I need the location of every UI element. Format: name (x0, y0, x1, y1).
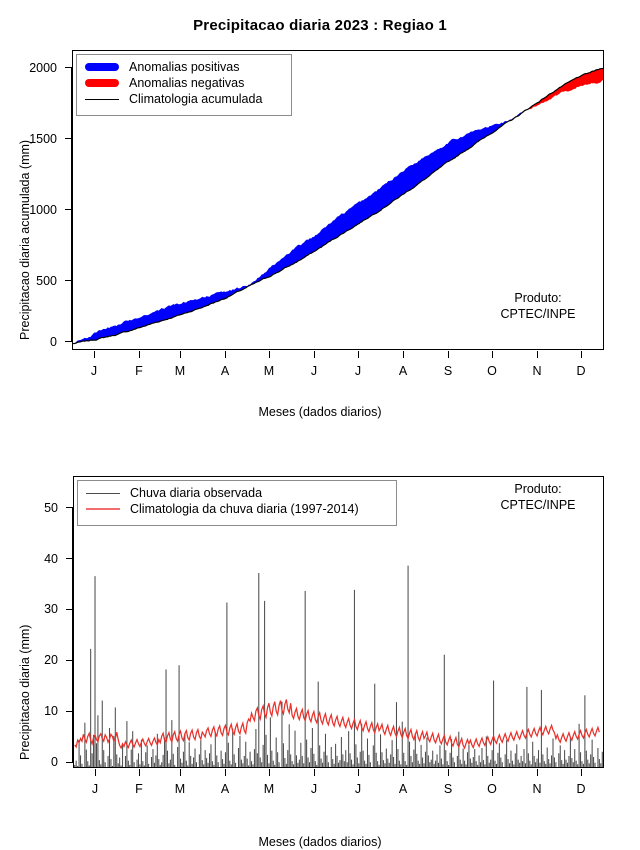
top-ytick-mark (65, 67, 72, 68)
legend-label: Chuva diaria observada (130, 486, 262, 500)
bottom-xtick-mark (581, 769, 582, 776)
bottom-ytick-mark (66, 762, 73, 763)
figure-page: Precipitacao diaria 2023 : Regiao 1 Prec… (0, 0, 640, 850)
bottom-ytick-40: 40 (14, 552, 58, 566)
bottom-xtick-mark (269, 769, 270, 776)
top-ytick-mark (65, 138, 72, 139)
page-title: Precipitacao diaria 2023 : Regiao 1 (0, 17, 640, 34)
bottom-x-axis-label: Meses (dados diarios) (0, 835, 640, 849)
bottom-xtick-mark (139, 769, 140, 776)
bottom-legend: Chuva diaria observada Climatologia da c… (77, 480, 397, 526)
top-xtick-label-N: N (522, 364, 552, 378)
bottom-xtick-label-J1: J (80, 782, 110, 796)
legend-item-observed-daily-rain: Chuva diaria observada (83, 485, 389, 501)
bottom-ytick-mark (66, 609, 73, 610)
top-ytick-mark (65, 280, 72, 281)
top-xtick-label-J1: J (79, 364, 109, 378)
top-xtick-mark (225, 351, 226, 358)
top-xtick-label-O: O (477, 364, 507, 378)
legend-item-accumulated-climatology: Climatologia acumulada (82, 91, 284, 107)
daily-precipitation-figure: Precipitacao diaria (mm) Meses (dados di… (0, 430, 640, 850)
bottom-xtick-label-M1: M (165, 782, 195, 796)
bottom-ytick-50: 50 (14, 501, 58, 515)
top-xtick-mark (94, 351, 95, 358)
bottom-xtick-label-A1: A (210, 782, 240, 796)
top-xtick-mark (537, 351, 538, 358)
top-xtick-label-J3: J (343, 364, 373, 378)
produto-line-1: Produto: (478, 482, 598, 498)
top-legend: Anomalias positivas Anomalias negativas … (76, 54, 292, 116)
top-xtick-mark (180, 351, 181, 358)
bottom-xtick-mark (537, 769, 538, 776)
top-x-axis-label: Meses (dados diarios) (0, 405, 640, 419)
accumulated-precipitation-figure: Precipitacao diaria 2023 : Regiao 1 Prec… (0, 0, 640, 430)
bottom-produto-annotation: Produto: CPTEC/INPE (478, 482, 598, 513)
top-xtick-mark (403, 351, 404, 358)
legend-item-negative-anomalies: Anomalias negativas (82, 75, 284, 91)
top-ytick-500: 500 (10, 274, 57, 288)
bottom-ytick-mark (66, 507, 73, 508)
top-xtick-mark (269, 351, 270, 358)
top-xtick-label-S: S (433, 364, 463, 378)
bottom-ytick-20: 20 (14, 653, 58, 667)
bottom-ytick-10: 10 (14, 704, 58, 718)
top-xtick-mark (448, 351, 449, 358)
top-ytick-1000: 1000 (10, 203, 57, 217)
top-xtick-label-D: D (566, 364, 596, 378)
bottom-ytick-mark (66, 711, 73, 712)
blue-bar-swatch-icon (82, 63, 122, 71)
bottom-xtick-label-O: O (477, 782, 507, 796)
bottom-ytick-mark (66, 558, 73, 559)
legend-item-positive-anomalies: Anomalias positivas (82, 59, 284, 75)
top-xtick-mark (581, 351, 582, 358)
top-ytick-mark (65, 341, 72, 342)
top-xtick-mark (492, 351, 493, 358)
produto-line-2: CPTEC/INPE (478, 498, 598, 514)
produto-line-2: CPTEC/INPE (478, 307, 598, 323)
bottom-ytick-mark (66, 660, 73, 661)
bottom-xtick-label-S: S (433, 782, 463, 796)
bottom-y-axis-label: Precipitacao diaria (mm) (18, 625, 32, 760)
bottom-xtick-mark (403, 769, 404, 776)
black-line-swatch-icon (82, 99, 122, 100)
red-bar-swatch-icon (82, 79, 122, 87)
bottom-xtick-label-J2: J (299, 782, 329, 796)
top-y-axis-label: Precipitacao diaria acumulada (mm) (18, 140, 32, 340)
top-xtick-mark (139, 351, 140, 358)
top-xtick-label-A2: A (388, 364, 418, 378)
top-xtick-label-M2: M (254, 364, 284, 378)
bottom-xtick-mark (358, 769, 359, 776)
bottom-xtick-mark (225, 769, 226, 776)
top-xtick-label-J2: J (299, 364, 329, 378)
top-xtick-mark (314, 351, 315, 358)
bottom-ytick-30: 30 (14, 602, 58, 616)
legend-item-daily-climatology: Climatologia da chuva diaria (1997-2014) (83, 501, 389, 517)
legend-label: Climatologia da chuva diaria (1997-2014) (130, 502, 359, 516)
bottom-xtick-label-M2: M (254, 782, 284, 796)
top-produto-annotation: Produto: CPTEC/INPE (478, 291, 598, 322)
bottom-xtick-mark (314, 769, 315, 776)
top-ytick-2000: 2000 (10, 61, 57, 75)
legend-label: Anomalias negativas (129, 76, 244, 90)
bottom-xtick-label-D: D (566, 782, 596, 796)
bottom-xtick-mark (180, 769, 181, 776)
top-ytick-0: 0 (10, 335, 57, 349)
bottom-xtick-label-F: F (124, 782, 154, 796)
bottom-xtick-mark (492, 769, 493, 776)
top-xtick-label-F: F (124, 364, 154, 378)
bottom-xtick-mark (95, 769, 96, 776)
top-xtick-mark (358, 351, 359, 358)
legend-label: Anomalias positivas (129, 60, 239, 74)
bottom-xtick-label-N: N (522, 782, 552, 796)
legend-label: Climatologia acumulada (129, 92, 262, 106)
bottom-xtick-label-A2: A (388, 782, 418, 796)
produto-line-1: Produto: (478, 291, 598, 307)
top-xtick-label-A1: A (210, 364, 240, 378)
top-xtick-label-M1: M (165, 364, 195, 378)
bottom-xtick-label-J3: J (343, 782, 373, 796)
bottom-xtick-mark (448, 769, 449, 776)
red-line-swatch-icon (83, 508, 123, 510)
top-ytick-1500: 1500 (10, 132, 57, 146)
gray-line-swatch-icon (83, 493, 123, 494)
bottom-ytick-0: 0 (14, 755, 58, 769)
top-ytick-mark (65, 209, 72, 210)
